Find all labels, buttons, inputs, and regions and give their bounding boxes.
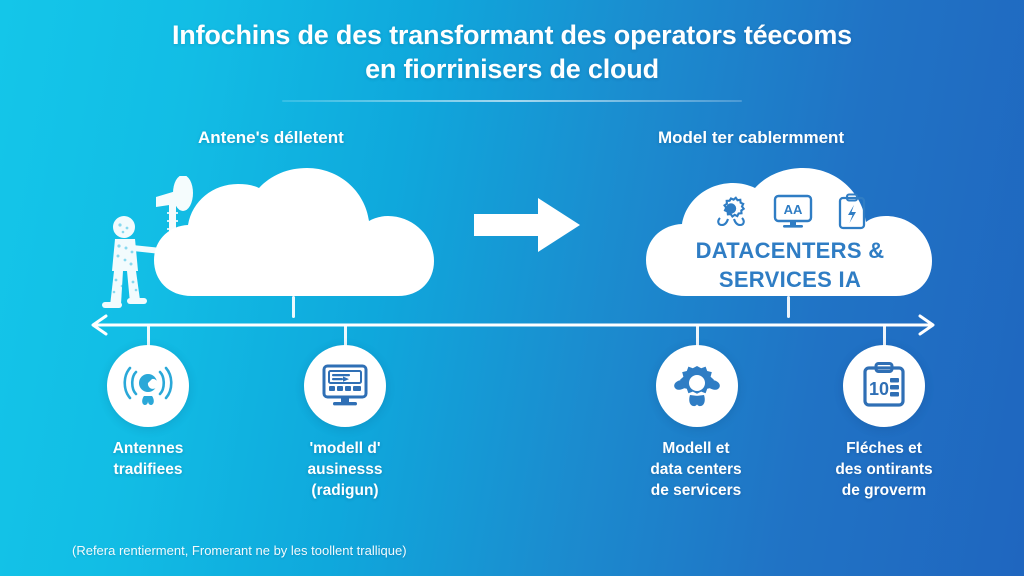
node-2-label-line-1: 'modell d' xyxy=(250,438,440,459)
node-4-label: Fléches et des ontirants de groverm xyxy=(789,438,979,501)
title-line-1: Infochins de des transformant des operat… xyxy=(0,18,1024,52)
cloud-right-shape xyxy=(640,168,938,296)
node-2-label-line-3: (radigun) xyxy=(250,480,440,501)
node-2[interactable] xyxy=(304,345,386,427)
connector-node-3 xyxy=(696,324,699,347)
node-3-label-line-3: de servicers xyxy=(601,480,791,501)
gear-cog-icon xyxy=(672,362,722,410)
node-1-label-line-2: tradifiees xyxy=(53,459,243,480)
node-4-circle[interactable]: 10 xyxy=(843,345,925,427)
connector-node-1 xyxy=(147,324,150,347)
infographic-canvas: Infochins de des transformant des operat… xyxy=(0,0,1024,576)
clipboard-badge-text: 10 xyxy=(869,379,889,399)
node-2-circle[interactable] xyxy=(304,345,386,427)
node-1-label: Antennes tradifiees xyxy=(53,438,243,480)
node-2-label: 'modell d' ausinesss (radigun) xyxy=(250,438,440,501)
caption-right: Model ter cablermment xyxy=(658,128,844,148)
node-4-label-line-1: Fléches et xyxy=(789,438,979,459)
technician-antenna-figure xyxy=(88,176,218,312)
node-1-label-line-1: Antennes xyxy=(53,438,243,459)
node-3[interactable] xyxy=(656,345,738,427)
page-title: Infochins de des transformant des operat… xyxy=(0,18,1024,86)
title-divider xyxy=(282,100,742,102)
timeline-axis xyxy=(84,313,942,337)
transformation-arrow xyxy=(474,196,580,254)
connector-node-2 xyxy=(344,324,347,347)
footer-note: (Refera rentierment, Fromerant ne by les… xyxy=(72,543,407,558)
clipboard-10-icon: 10 xyxy=(861,362,907,410)
node-1[interactable] xyxy=(107,345,189,427)
node-1-circle[interactable] xyxy=(107,345,189,427)
caption-left: Antene's délletent xyxy=(198,128,344,148)
connector-cloud-left xyxy=(292,296,295,318)
node-3-label-line-1: Modell et xyxy=(601,438,791,459)
desktop-monitor-icon xyxy=(320,363,370,409)
connector-node-4 xyxy=(883,324,886,347)
node-4-label-line-2: des ontirants xyxy=(789,459,979,480)
node-3-label: Modell et data centers de servicers xyxy=(601,438,791,501)
title-line-2: en fiorrinisers de cloud xyxy=(0,52,1024,86)
node-4-label-line-3: de groverm xyxy=(789,480,979,501)
node-2-label-line-2: ausinesss xyxy=(250,459,440,480)
antenna-signal-icon xyxy=(122,362,174,410)
node-4[interactable]: 10 xyxy=(843,345,925,427)
node-3-label-line-2: data centers xyxy=(601,459,791,480)
node-3-circle[interactable] xyxy=(656,345,738,427)
connector-cloud-right xyxy=(787,296,790,318)
